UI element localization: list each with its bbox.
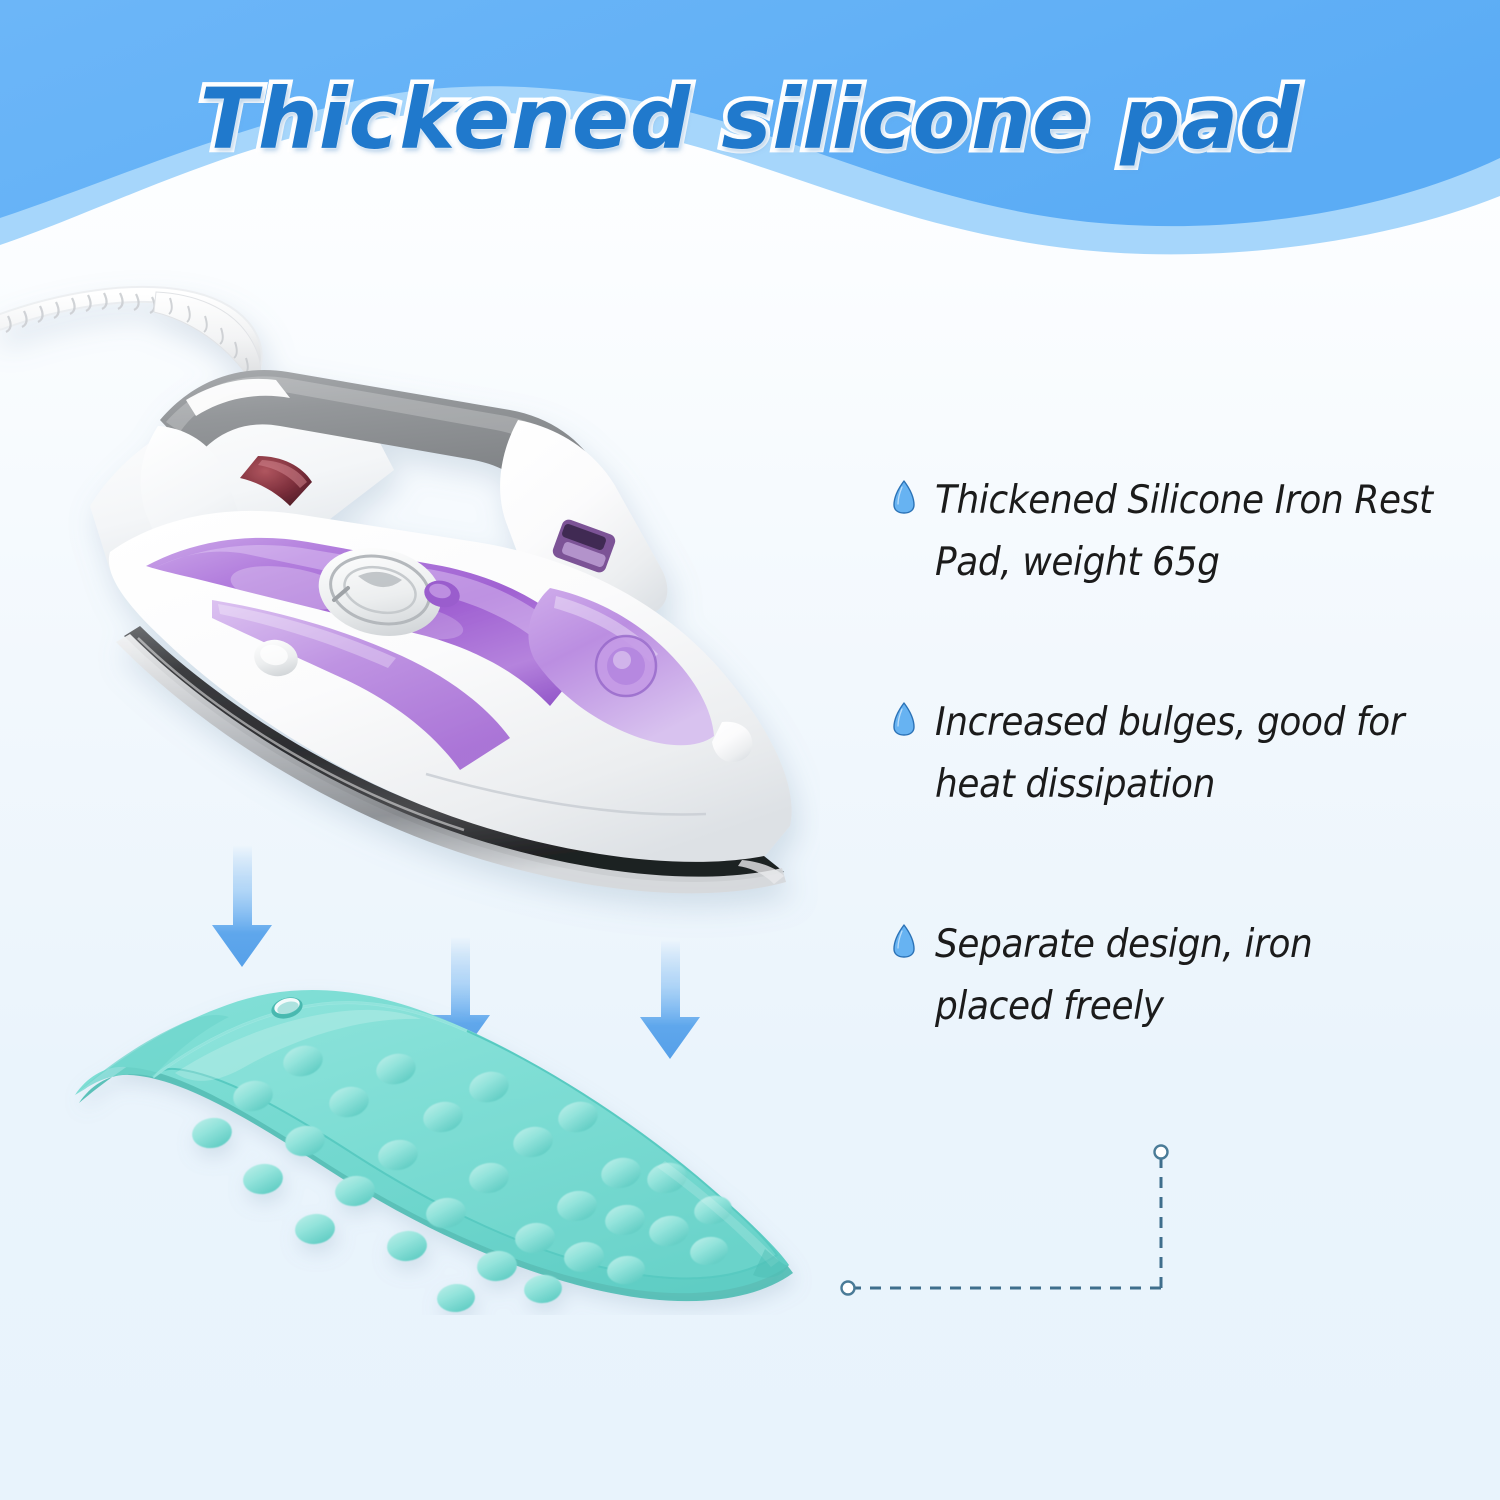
feature-text: Increased bulges, good for heat dissipat… — [935, 692, 1404, 817]
dimension-guide — [828, 1128, 1208, 1308]
placement-arrow — [212, 845, 272, 967]
feature-item: Separate design, iron placed freely — [893, 914, 1483, 1039]
power-cord — [0, 292, 261, 388]
iron-drop-bullet-icon — [893, 924, 915, 958]
feature-line: Pad, weight 65g — [935, 532, 1433, 594]
iron-drop-bullet-icon — [893, 480, 915, 514]
feature-item: Increased bulges, good for heat dissipat… — [893, 692, 1483, 817]
feature-line: Thickened Silicone Iron Rest — [935, 470, 1433, 532]
silicone-iron-rest-pad — [65, 965, 875, 1315]
feature-text: Thickened Silicone Iron Rest Pad, weight… — [935, 470, 1433, 595]
guide-endpoint — [842, 1282, 855, 1295]
page-title: Thickened silicone pad — [0, 70, 1500, 168]
feature-line: Increased bulges, good for — [935, 692, 1404, 754]
feature-list: Thickened Silicone Iron Rest Pad, weight… — [893, 470, 1483, 1135]
feature-line: Separate design, iron — [935, 914, 1312, 976]
feature-text: Separate design, iron placed freely — [935, 914, 1312, 1039]
iron-drop-bullet-icon — [893, 702, 915, 736]
product-infographic: Thickened silicone pad — [0, 0, 1500, 1500]
guide-endpoint — [1155, 1146, 1168, 1159]
feature-line: placed freely — [935, 976, 1312, 1038]
feature-line: heat dissipation — [935, 754, 1404, 816]
product-illustration — [0, 250, 900, 1370]
feature-item: Thickened Silicone Iron Rest Pad, weight… — [893, 470, 1483, 595]
